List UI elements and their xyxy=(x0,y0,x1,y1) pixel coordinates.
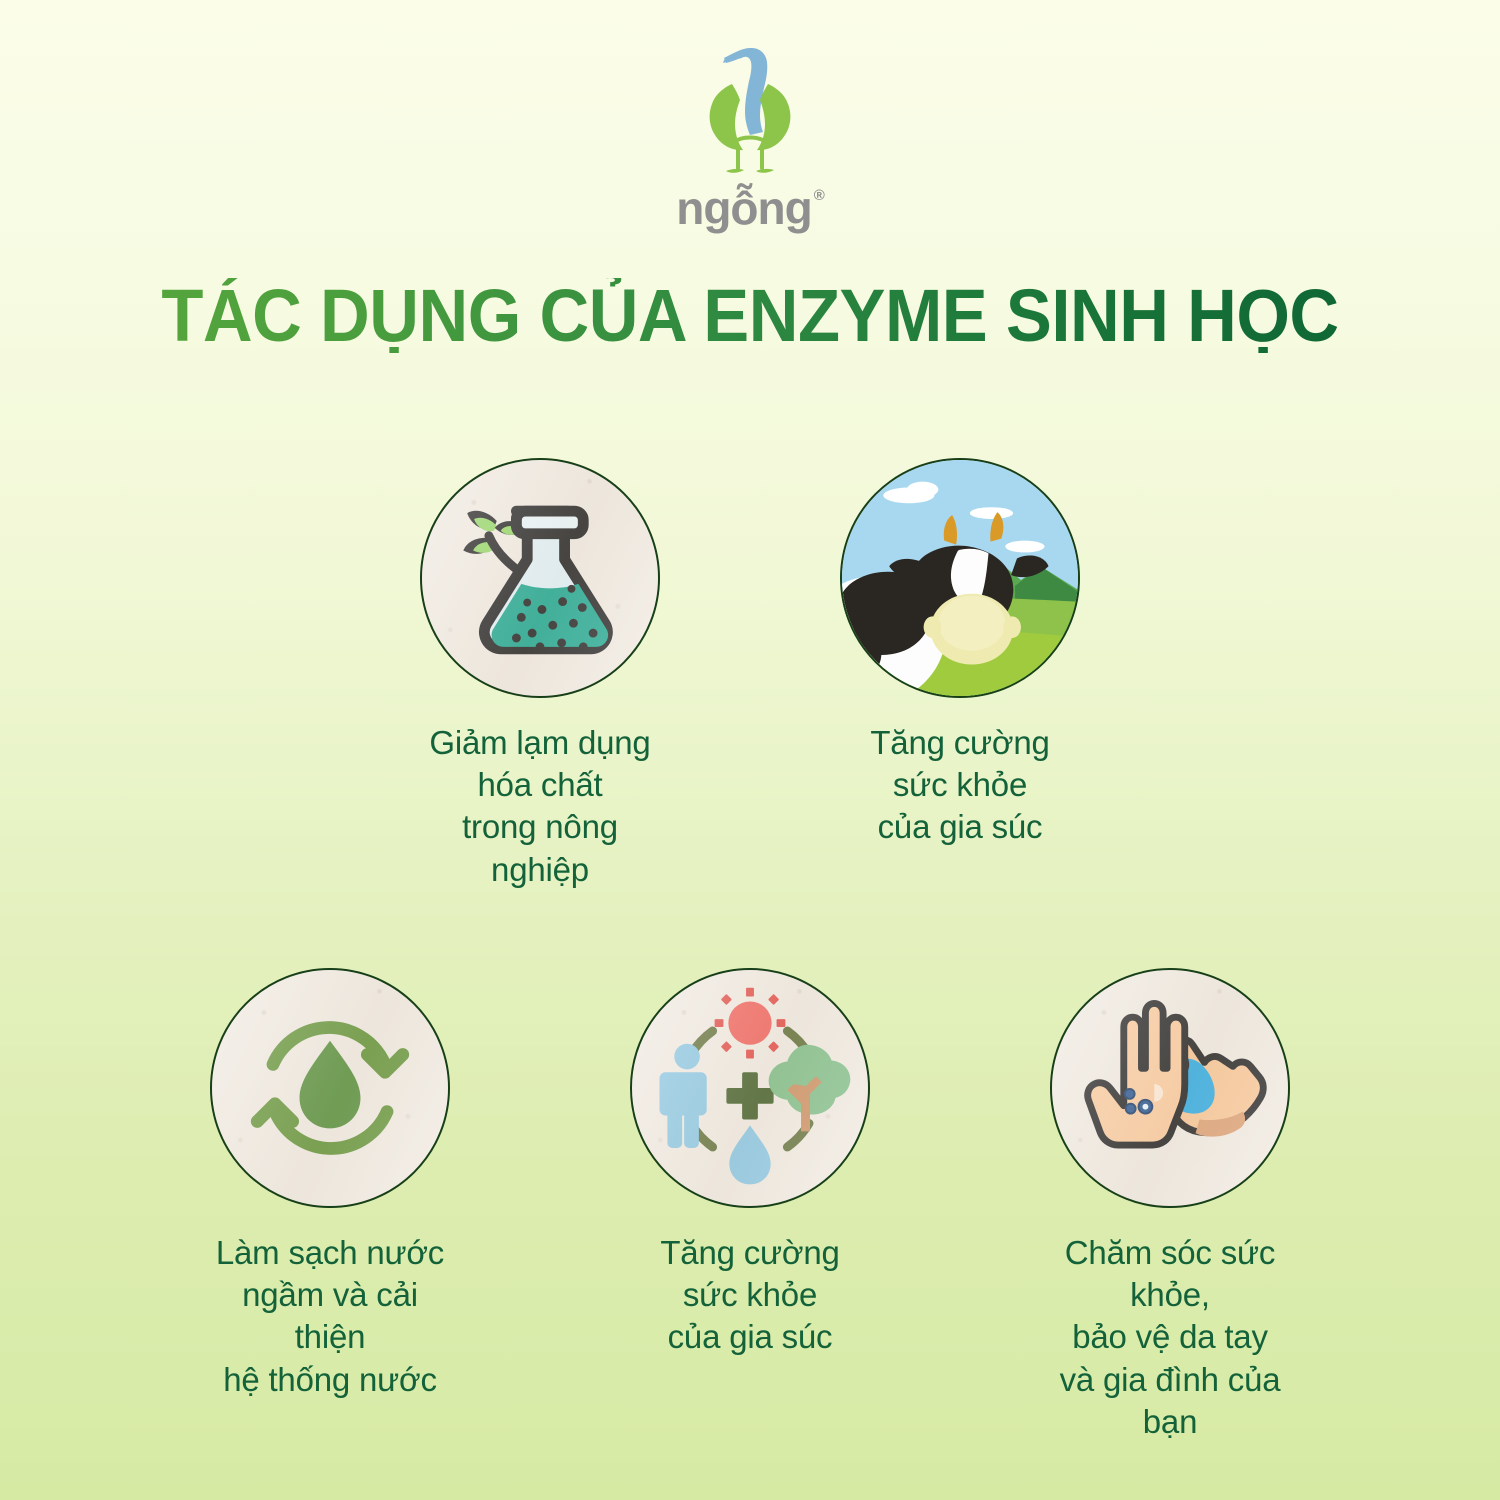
benefits-row-1: Giảm lạm dụng hóa chất trong nông nghiệp xyxy=(0,458,1500,891)
cow-pasture-icon xyxy=(840,458,1080,698)
benefit-card-cow: Tăng cường sức khỏe của gia súc xyxy=(840,458,1080,891)
brand-wordmark-text: ngỗng xyxy=(676,185,812,231)
registered-trademark-icon: ® xyxy=(814,188,824,203)
goose-leaf-logo-icon xyxy=(690,38,810,183)
benefit-caption: Làm sạch nước ngầm và cải thiện hệ thống… xyxy=(210,1232,450,1401)
benefit-card-water: Làm sạch nước ngầm và cải thiện hệ thống… xyxy=(210,968,450,1443)
benefit-card-ecosystem: Tăng cường sức khỏe của gia súc xyxy=(630,968,870,1443)
water-recycle-droplet-icon xyxy=(210,968,450,1208)
benefit-card-flask: Giảm lạm dụng hóa chất trong nông nghiệp xyxy=(420,458,660,891)
benefits-row-2: Làm sạch nước ngầm và cải thiện hệ thống… xyxy=(0,968,1500,1443)
hand-washing-icon xyxy=(1050,968,1290,1208)
benefit-caption: Tăng cường sức khỏe của gia súc xyxy=(870,722,1049,849)
person-plus-tree-icon xyxy=(630,968,870,1208)
benefit-caption: Chăm sóc sức khỏe, bảo vệ da tay và gia … xyxy=(1050,1232,1290,1443)
benefit-caption: Giảm lạm dụng hóa chất trong nông nghiệp xyxy=(420,722,660,891)
brand-wordmark: ngỗng® xyxy=(676,185,824,231)
page-title: TÁC DỤNG CỦA ENZYME SINH HỌC xyxy=(53,278,1448,353)
flask-plant-icon xyxy=(420,458,660,698)
brand-logo: ngỗng® xyxy=(0,38,1500,231)
benefit-card-hands: Chăm sóc sức khỏe, bảo vệ da tay và gia … xyxy=(1050,968,1290,1443)
benefit-caption: Tăng cường sức khỏe của gia súc xyxy=(660,1232,839,1359)
